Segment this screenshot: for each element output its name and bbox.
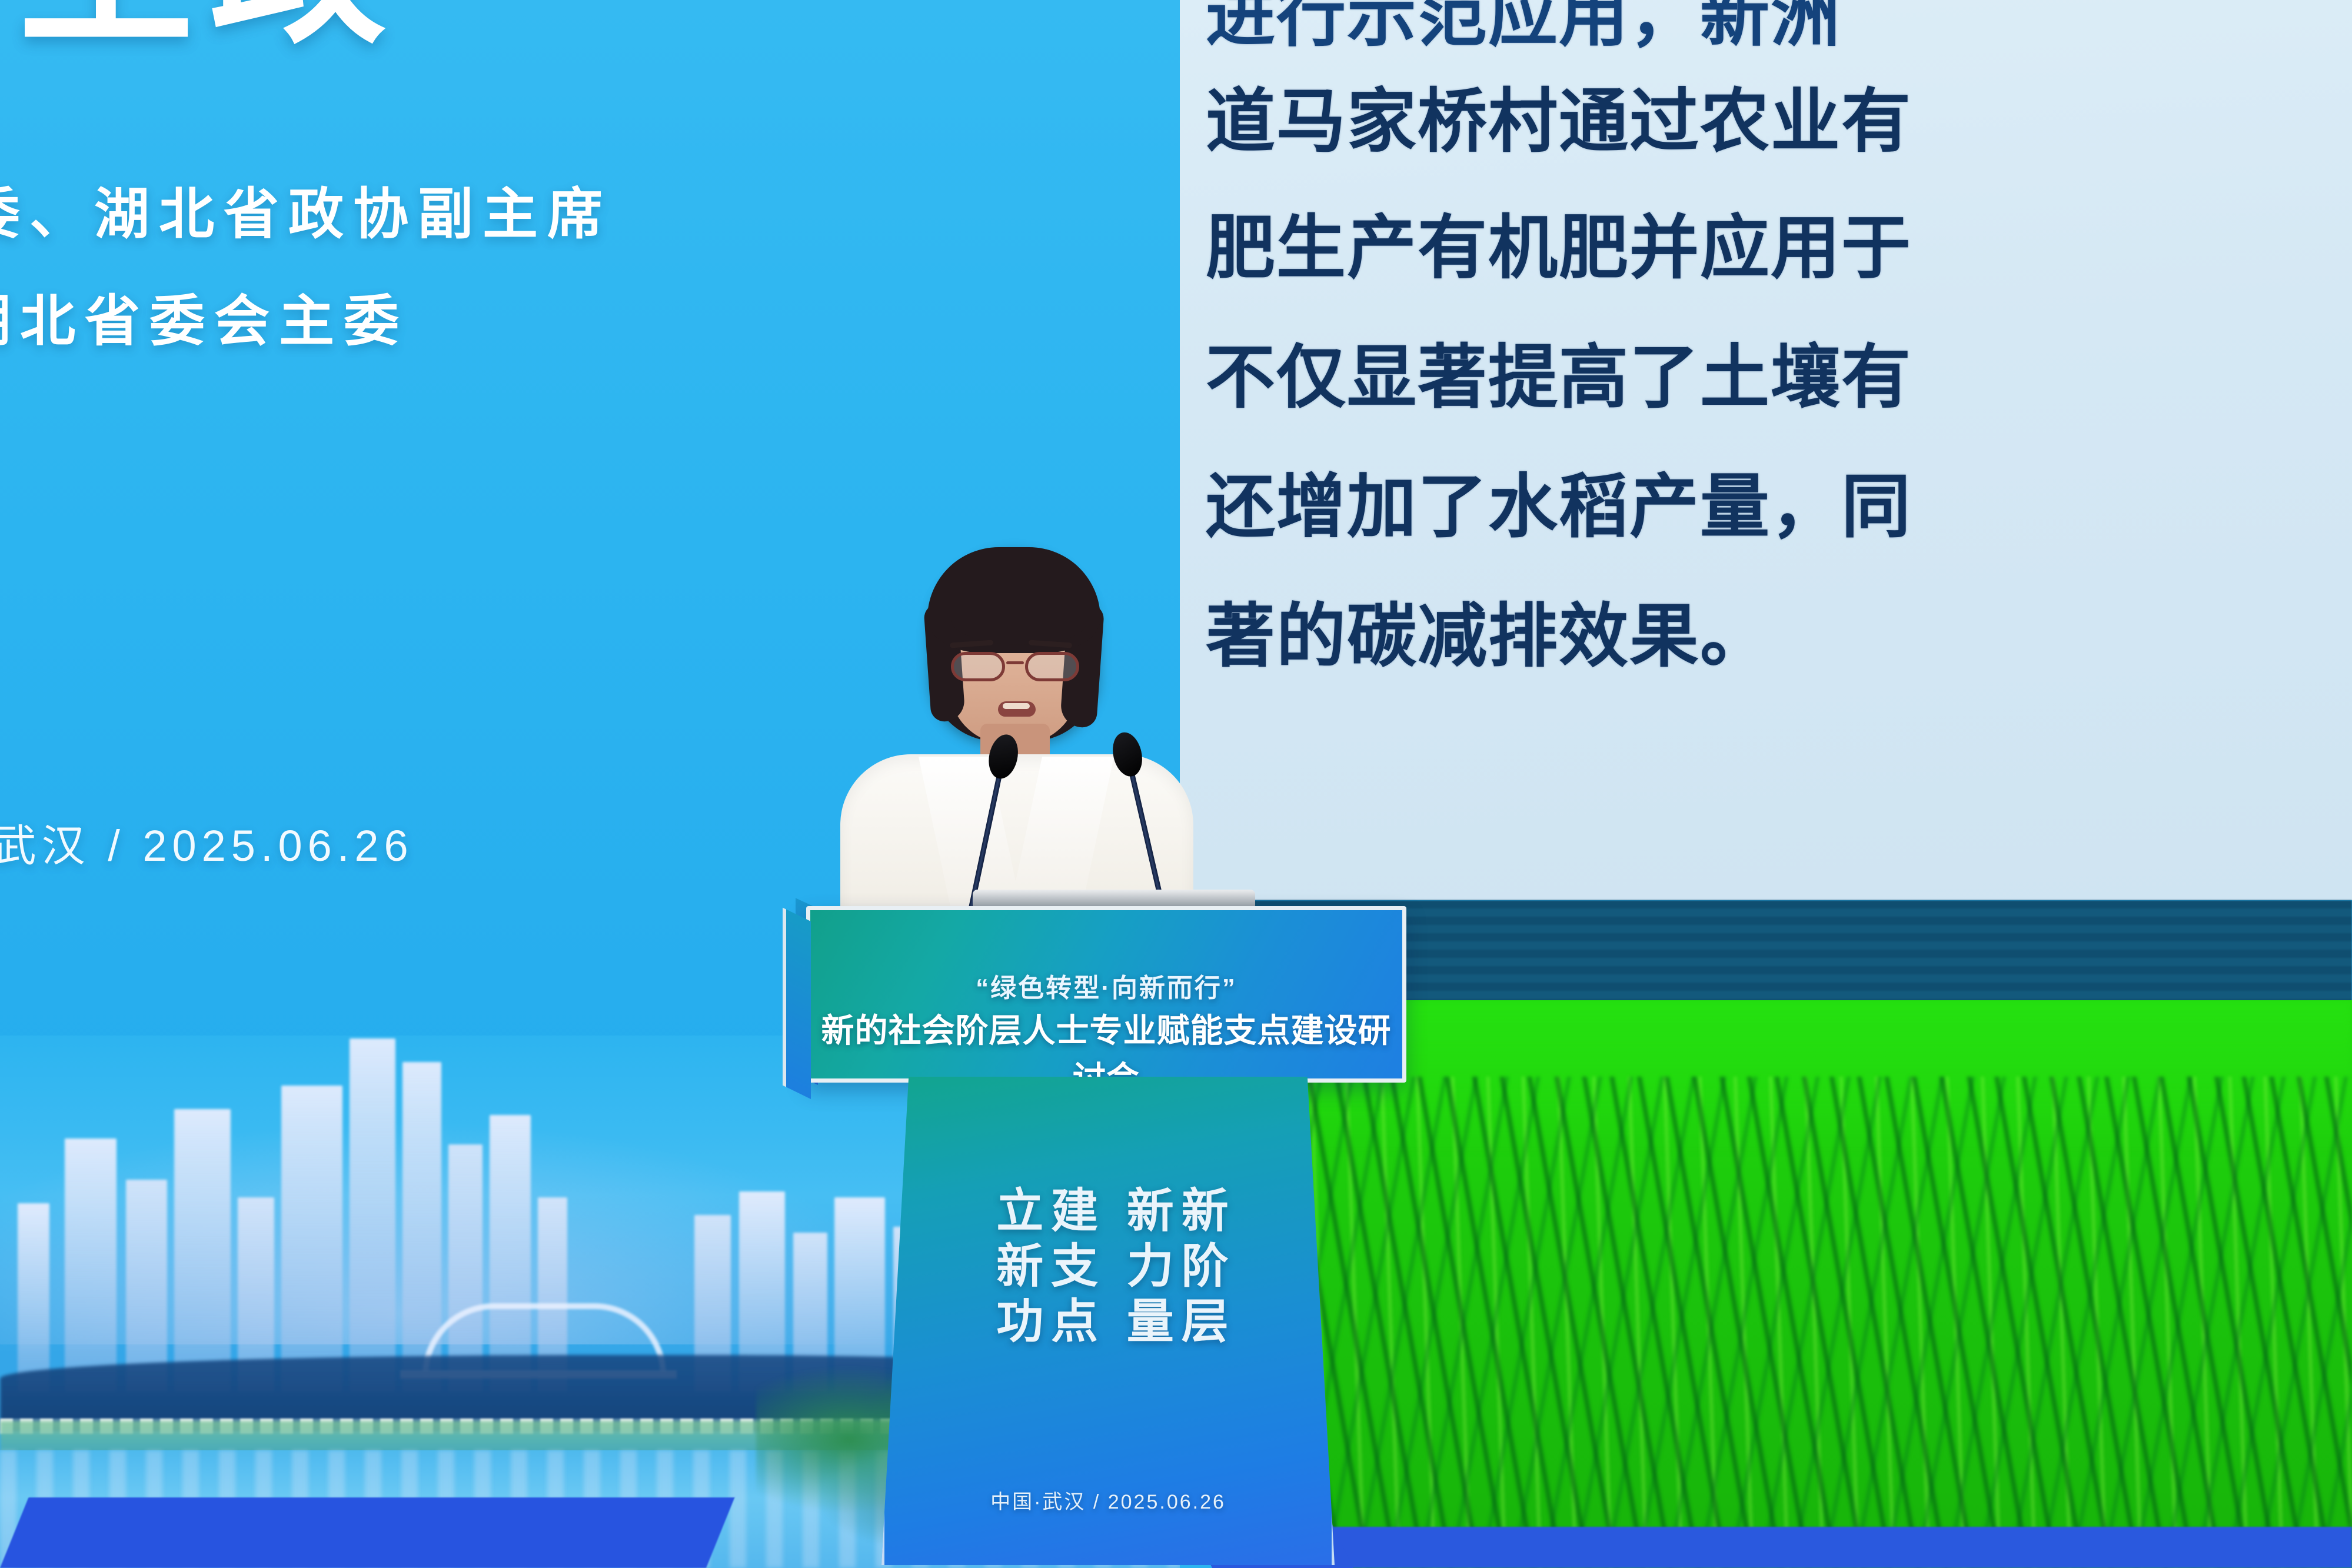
glasses-icon	[950, 652, 1080, 684]
projection-screen: 进行示范应用，新洲 道马家桥村通过农业有 肥生产有机肥并应用于 不仅显著提高了土…	[1180, 0, 2352, 900]
conference-stage-photo: 主政 委、湖北省政协副主席 湖北省委会主委 ·武汉 / 2025.06.26	[0, 0, 2352, 1568]
slide-text-line: 道马家桥村通过农业有	[1206, 65, 2352, 165]
stage-floor-left	[0, 1497, 734, 1568]
podium-vertical-left-top: 建支点	[1044, 1186, 1097, 1351]
podium-vertical-left-bottom: 立新功	[990, 1186, 1042, 1351]
podium-front-panel: 建支点立新功 新阶层新力量 中国·武汉 / 2025.06.26	[881, 1077, 1335, 1565]
slide-text-line: 不仅显著提高了土壤有	[1206, 321, 2352, 421]
slide-text-line: 肥生产有机肥并应用于	[1206, 191, 2352, 292]
slide-text-line: 还增加了水稻产量，同	[1206, 450, 2352, 551]
podium-vertical-right-top: 新阶层	[1175, 1186, 1227, 1351]
glasses-bridge	[1006, 661, 1024, 664]
slide-text-line: 著的碳减排效果。	[1206, 580, 2352, 680]
building	[281, 1086, 342, 1391]
speaker-mouth	[998, 701, 1036, 717]
building	[174, 1109, 231, 1391]
podium-slogan: “绿色转型·向新而行”	[810, 967, 1402, 1004]
building	[126, 1180, 167, 1391]
backdrop-title-fragment: 主政	[18, 0, 401, 53]
podium-vertical-right: 新阶层新力量	[1119, 1186, 1228, 1351]
glasses-lens-left	[951, 652, 1005, 681]
podium-top-left-face	[783, 908, 811, 1099]
building	[18, 1203, 49, 1391]
podium-vertical-slogans: 建支点立新功 新阶层新力量	[884, 1186, 1332, 1351]
backdrop-location-date: ·武汉 / 2025.06.26	[0, 811, 414, 874]
speaker-hair-front	[927, 547, 1100, 653]
building	[350, 1038, 395, 1391]
slide-text-line: 进行示范应用，新洲	[1206, 0, 2352, 59]
podium: “绿色转型·向新而行” 新的社会阶层人士专业赋能支点建设研讨会 建支点立新功 新…	[783, 900, 1436, 1568]
podium-location-date: 中国·武汉 / 2025.06.26	[884, 1486, 1332, 1514]
podium-vertical-left: 建支点立新功	[988, 1186, 1097, 1351]
building	[65, 1138, 117, 1391]
podium-vertical-right-bottom: 新力量	[1120, 1186, 1173, 1351]
glasses-lens-right	[1025, 652, 1079, 681]
backdrop-name-line-2: 湖北省委会主委	[0, 277, 408, 357]
backdrop-name-line-1: 委、湖北省政协副主席	[0, 169, 612, 249]
podium-top-panel: “绿色转型·向新而行” 新的社会阶层人士专业赋能支点建设研讨会	[806, 906, 1406, 1083]
